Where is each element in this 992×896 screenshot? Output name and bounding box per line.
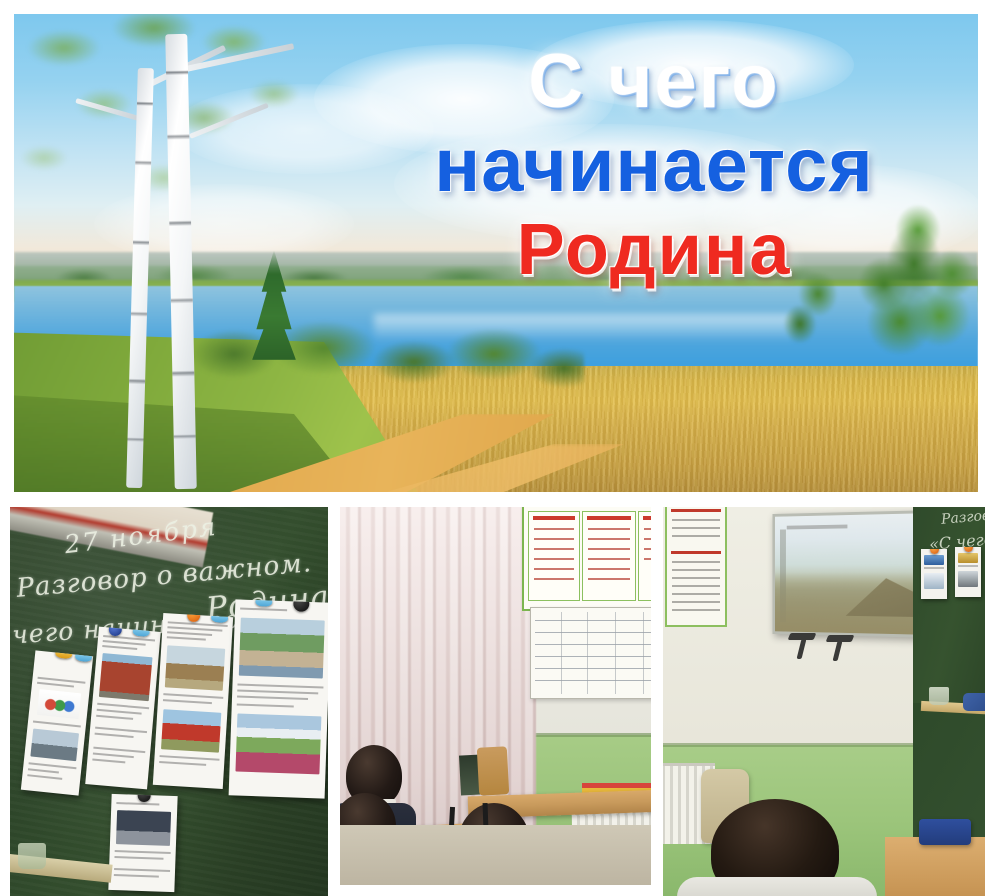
desk [885, 837, 985, 896]
student-shirt [677, 877, 877, 896]
photo-students-at-desks [340, 507, 651, 885]
page-root: С чего начинается Родина 27 ноября Разго… [0, 0, 992, 896]
magnet-icon [964, 547, 973, 552]
magnet-icon [930, 549, 939, 554]
presentation-slide-banner: С чего начинается Родина [14, 14, 978, 492]
poster [108, 794, 177, 892]
poster [153, 613, 233, 789]
slide-caption-line [787, 525, 848, 530]
magnet-icon [137, 794, 150, 802]
floor [340, 825, 651, 885]
poster [955, 547, 981, 597]
poster [921, 549, 947, 599]
cup-icon [929, 687, 949, 705]
magnet-icon [187, 613, 201, 622]
cup-icon [18, 843, 46, 869]
riverside-bushes [164, 314, 584, 424]
slide-title: С чего начинается Родина [344, 44, 964, 286]
title-line-2: начинается [344, 128, 964, 204]
magnet-icon [255, 599, 272, 606]
wall-chart-units [522, 507, 651, 611]
chair [477, 746, 509, 796]
title-line-3: Родина [344, 214, 964, 286]
wall-chart-table [530, 607, 651, 699]
cloth-icon [963, 693, 985, 711]
speaker-icon [919, 819, 971, 845]
photo-projector-screen: Разговор «С чего на [663, 507, 985, 896]
title-line-1: С чего [344, 44, 964, 120]
poster [229, 599, 328, 798]
photo-chalkboard: 27 ноября Разговор о важном. чего начина… [10, 507, 328, 896]
magnet-icon [293, 599, 310, 612]
wall-chart [665, 507, 727, 627]
